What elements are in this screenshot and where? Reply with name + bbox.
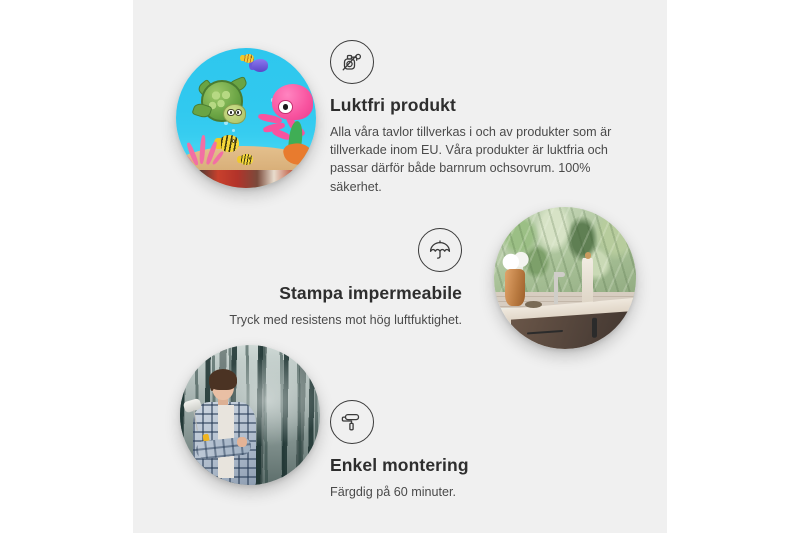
feature-description: Tryck med resistens mot hög luftfuktighe…: [180, 311, 462, 329]
striped-fish-illustration: [243, 54, 254, 63]
installer-person: [188, 370, 266, 485]
feature-description: Alla våra tavlor tillverkas i och av pro…: [330, 123, 620, 196]
octopus-eye: [278, 100, 292, 114]
feature-title: Enkel montering: [330, 455, 580, 477]
paint-roller-icon: [330, 400, 374, 444]
no-odour-perfume-bottle-icon: [330, 40, 374, 84]
feature-description: Färgdig på 60 minuter.: [330, 483, 580, 501]
cabinet-handle: [592, 318, 597, 338]
feature-block-odourless: Luktfri produkt Alla våra tavlor tillver…: [330, 40, 620, 196]
umbrella-waterproof-icon: [418, 228, 462, 272]
hair: [209, 369, 237, 390]
faucet: [554, 272, 558, 303]
fish-body: [252, 59, 268, 72]
forest-scene: [180, 345, 320, 485]
turtle-head: [223, 104, 246, 124]
feature-title: Stampa impermeabile: [180, 283, 462, 305]
cabinet-handle: [527, 330, 564, 334]
turtle-eye: [235, 109, 242, 116]
feature-block-waterproof: Stampa impermeabile Tryck med resistens …: [180, 228, 462, 329]
turtle-eye: [227, 109, 234, 116]
copper-vase: [505, 269, 525, 306]
striped-fish-illustration: [240, 154, 253, 165]
screenshot-root: Luktfri produkt Alla våra tavlor tillver…: [0, 0, 800, 533]
octopus-head: [272, 84, 313, 120]
soap-dish: [525, 301, 542, 308]
soap-dispenser: [582, 258, 593, 303]
coral-illustration: [183, 132, 225, 174]
bathroom-tropical-wallpaper-photo: [494, 207, 636, 349]
feature-block-easy-installation: Enkel montering Färgdig på 60 minuter.: [330, 400, 580, 501]
underwater-cartoon-mural-photo: [176, 48, 316, 188]
installer-forest-mural-photo: [180, 345, 320, 485]
bathroom-scene: [494, 207, 636, 349]
octopus-illustration: [257, 84, 313, 146]
feature-title: Luktfri produkt: [330, 95, 620, 117]
sea-turtle-illustration: [196, 77, 258, 133]
hand: [237, 437, 247, 447]
underwater-scene: [176, 48, 316, 188]
